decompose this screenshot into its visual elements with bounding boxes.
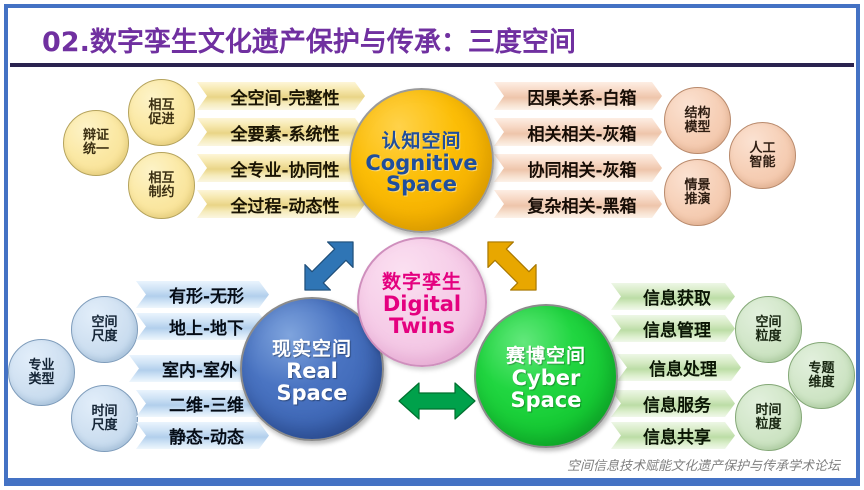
circle-line-1: 专题 (808, 362, 834, 376)
cognitive-right-box-2[interactable]: 相关相关-灰箱 (494, 118, 662, 146)
cognitive-left-box-4[interactable]: 全过程-动态性 (197, 190, 365, 218)
real-left-box-5[interactable]: 静态-动态 (136, 422, 269, 449)
sphere-cn-label: 数字孪生 (382, 267, 462, 294)
box-label: 协同相关-灰箱 (527, 156, 636, 181)
real-left-circle-2[interactable]: 专业 类型 (8, 339, 75, 406)
real-left-circle-1[interactable]: 空间 尺度 (71, 296, 138, 363)
cognitive-left-circle-2[interactable]: 相互 促进 (128, 79, 195, 146)
sphere-en-label-2: Twins (389, 316, 455, 337)
box-label: 全空间-完整性 (230, 84, 339, 109)
cyber-right-box-2[interactable]: 信息管理 (611, 315, 735, 342)
box-label: 复杂相关-黑箱 (527, 192, 636, 217)
frame-border-left (4, 4, 8, 486)
circle-line-1: 相互 (148, 172, 174, 186)
circle-line-1: 时间 (755, 404, 781, 418)
circle-line-1: 相互 (148, 99, 174, 113)
circle-line-1: 情景 (684, 179, 710, 193)
cyber-right-circle-3[interactable]: 时间 粒度 (735, 384, 802, 451)
circle-line-1: 辩证 (83, 129, 109, 143)
circle-line-2: 统一 (83, 143, 109, 157)
frame-border-top (4, 4, 860, 8)
box-label: 信息管理 (643, 316, 711, 341)
cyber-right-box-3[interactable]: 信息处理 (617, 354, 741, 381)
circle-line-2: 尺度 (91, 330, 117, 344)
sphere-en-label-1: Real (286, 361, 338, 382)
cognitive-right-circle-1[interactable]: 结构 模型 (664, 87, 731, 154)
arrow-cognitive-cyber-icon (472, 226, 552, 306)
circle-line-2: 粒度 (755, 330, 781, 344)
box-label: 全过程-动态性 (230, 192, 339, 217)
circle-line-2: 模型 (684, 121, 710, 135)
circle-line-2: 智能 (749, 156, 775, 170)
circle-line-1: 人工 (749, 142, 775, 156)
cyber-right-box-1[interactable]: 信息获取 (611, 283, 735, 310)
box-label: 静态-动态 (169, 423, 244, 448)
circle-line-1: 空间 (91, 316, 117, 330)
circle-line-2: 推演 (684, 193, 710, 207)
box-label: 信息共享 (643, 423, 711, 448)
box-label: 二维-三维 (169, 391, 244, 416)
sphere-en-label-2: Space (510, 390, 581, 411)
sphere-en-label-1: Cognitive (365, 153, 477, 174)
title-divider (10, 63, 854, 67)
circle-line-2: 类型 (28, 373, 54, 387)
sphere-cognitive-space[interactable]: 认知空间 Cognitive Space (349, 88, 494, 233)
page-title: 02.数字孪生文化遗产保护与传承：三度空间 (42, 20, 802, 58)
box-label: 信息处理 (649, 355, 717, 380)
circle-line-1: 结构 (684, 107, 710, 121)
cognitive-right-circle-2[interactable]: 人工 智能 (729, 122, 796, 189)
box-label: 信息服务 (643, 391, 711, 416)
circle-line-1: 时间 (91, 405, 117, 419)
arrow-cognitive-real-icon (289, 226, 369, 306)
sphere-cn-label: 赛博空间 (506, 341, 586, 368)
box-label: 全专业-协同性 (230, 156, 339, 181)
sphere-cyber-space[interactable]: 赛博空间 Cyber Space (474, 304, 618, 448)
cyber-right-circle-1[interactable]: 空间 粒度 (735, 296, 802, 363)
sphere-en-label-2: Space (386, 174, 457, 195)
box-label: 地上-地下 (169, 314, 244, 339)
box-label: 全要素-系统性 (230, 120, 339, 145)
cyber-right-box-5[interactable]: 信息共享 (611, 422, 735, 449)
box-label: 信息获取 (643, 284, 711, 309)
frame-border-right (856, 4, 860, 486)
sphere-en-label-1: Cyber (512, 368, 581, 389)
cyber-right-box-4[interactable]: 信息服务 (611, 390, 735, 417)
cognitive-right-box-4[interactable]: 复杂相关-黑箱 (494, 190, 662, 218)
sphere-digital-twins[interactable]: 数字孪生 Digital Twins (357, 237, 487, 367)
frame-border-bottom (4, 478, 860, 486)
sphere-cn-label: 现实空间 (272, 334, 352, 361)
cognitive-left-box-1[interactable]: 全空间-完整性 (197, 82, 365, 110)
circle-line-2: 制约 (148, 186, 174, 200)
box-label: 因果关系-白箱 (527, 84, 636, 109)
circle-line-2: 促进 (148, 113, 174, 127)
circle-line-2: 维度 (808, 376, 834, 390)
circle-line-2: 尺度 (91, 419, 117, 433)
sphere-cn-label: 认知空间 (381, 126, 461, 153)
circle-line-2: 粒度 (755, 418, 781, 432)
real-left-box-1[interactable]: 有形-无形 (136, 281, 269, 308)
box-label: 相关相关-灰箱 (527, 120, 636, 145)
cognitive-right-box-1[interactable]: 因果关系-白箱 (494, 82, 662, 110)
cognitive-left-box-3[interactable]: 全专业-协同性 (197, 154, 365, 182)
sphere-en-label-2: Space (276, 383, 347, 404)
slide-canvas: 02.数字孪生文化遗产保护与传承：三度空间 辩证 统一 相互 促进 相互 制约 … (0, 0, 864, 490)
cyber-right-circle-2[interactable]: 专题 维度 (788, 342, 855, 409)
circle-line-1: 专业 (28, 359, 54, 373)
circle-line-1: 空间 (755, 316, 781, 330)
arrow-real-cyber-icon (395, 378, 479, 424)
cognitive-left-box-2[interactable]: 全要素-系统性 (197, 118, 365, 146)
real-left-circle-3[interactable]: 时间 尺度 (71, 385, 138, 452)
sphere-en-label-1: Digital (383, 294, 461, 315)
box-label: 有形-无形 (169, 282, 244, 307)
cognitive-left-circle-1[interactable]: 辩证 统一 (63, 110, 129, 176)
cognitive-right-circle-3[interactable]: 情景 推演 (664, 159, 731, 226)
cognitive-right-box-3[interactable]: 协同相关-灰箱 (494, 154, 662, 182)
box-label: 室内-室外 (162, 356, 237, 381)
cognitive-left-circle-3[interactable]: 相互 制约 (128, 152, 195, 219)
footer-text: 空间信息技术赋能文化遗产保护与传承学术论坛 (420, 455, 840, 475)
